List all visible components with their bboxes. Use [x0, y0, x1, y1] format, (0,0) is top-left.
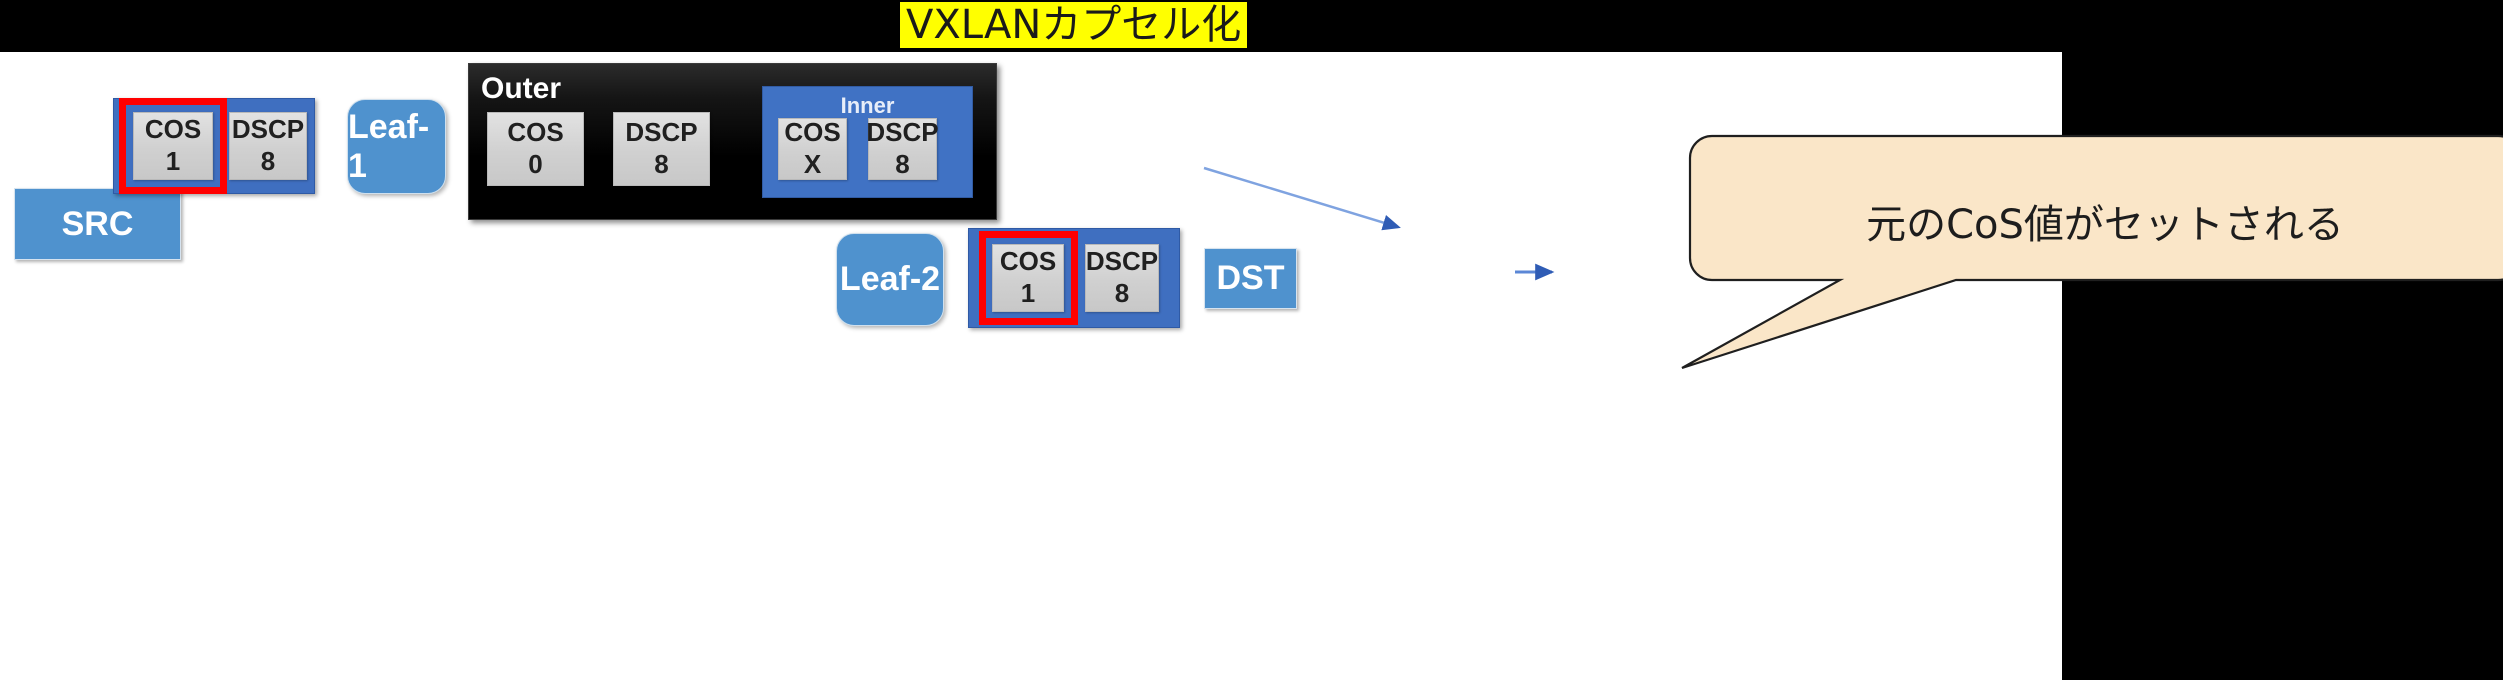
- field-name: DSCP: [232, 114, 304, 146]
- cos-highlight-ring-ingress: [119, 98, 227, 194]
- diagram-canvas: VXLANカプセル化 SRC COS 1 DSCP 8: [0, 0, 2503, 680]
- node-leaf-1-label: Leaf-1: [348, 108, 445, 186]
- outer-field-dscp[interactable]: DSCP 8: [613, 112, 710, 186]
- outer-field-cos[interactable]: COS 0: [487, 112, 584, 186]
- field-name: DSCP: [866, 117, 938, 149]
- page-title: VXLANカプセル化: [900, 2, 1247, 48]
- node-leaf-2-label: Leaf-2: [840, 260, 940, 299]
- callout-text: 元のCoS値がセットされる: [1760, 178, 2450, 264]
- field-value: 8: [261, 146, 275, 178]
- packet-ingress-field-dscp[interactable]: DSCP 8: [229, 112, 307, 180]
- node-dst[interactable]: DST: [1204, 248, 1297, 309]
- packet-egress-field-dscp[interactable]: DSCP 8: [1085, 244, 1159, 312]
- field-value: 0: [528, 149, 542, 181]
- inner-field-cos[interactable]: COS X: [778, 118, 847, 180]
- inner-label: Inner: [763, 93, 972, 119]
- node-leaf-1[interactable]: Leaf-1: [347, 99, 446, 194]
- field-name: DSCP: [625, 117, 697, 149]
- outer-label: Outer: [481, 72, 561, 106]
- field-name: COS: [784, 117, 840, 149]
- field-name: DSCP: [1086, 246, 1158, 278]
- field-value: 8: [654, 149, 668, 181]
- field-value: X: [804, 149, 821, 181]
- node-dst-label: DST: [1217, 259, 1285, 298]
- callout-shape[interactable]: [1690, 136, 2503, 396]
- node-src[interactable]: SRC: [14, 188, 181, 260]
- field-name: COS: [507, 117, 563, 149]
- title-bar: VXLANカプセル化: [0, 0, 2062, 52]
- cos-highlight-ring-egress: [979, 231, 1078, 325]
- node-leaf-2[interactable]: Leaf-2: [836, 233, 944, 326]
- inner-field-dscp[interactable]: DSCP 8: [868, 118, 937, 180]
- node-src-label: SRC: [62, 205, 134, 244]
- field-value: 8: [895, 149, 909, 181]
- field-value: 8: [1115, 278, 1129, 310]
